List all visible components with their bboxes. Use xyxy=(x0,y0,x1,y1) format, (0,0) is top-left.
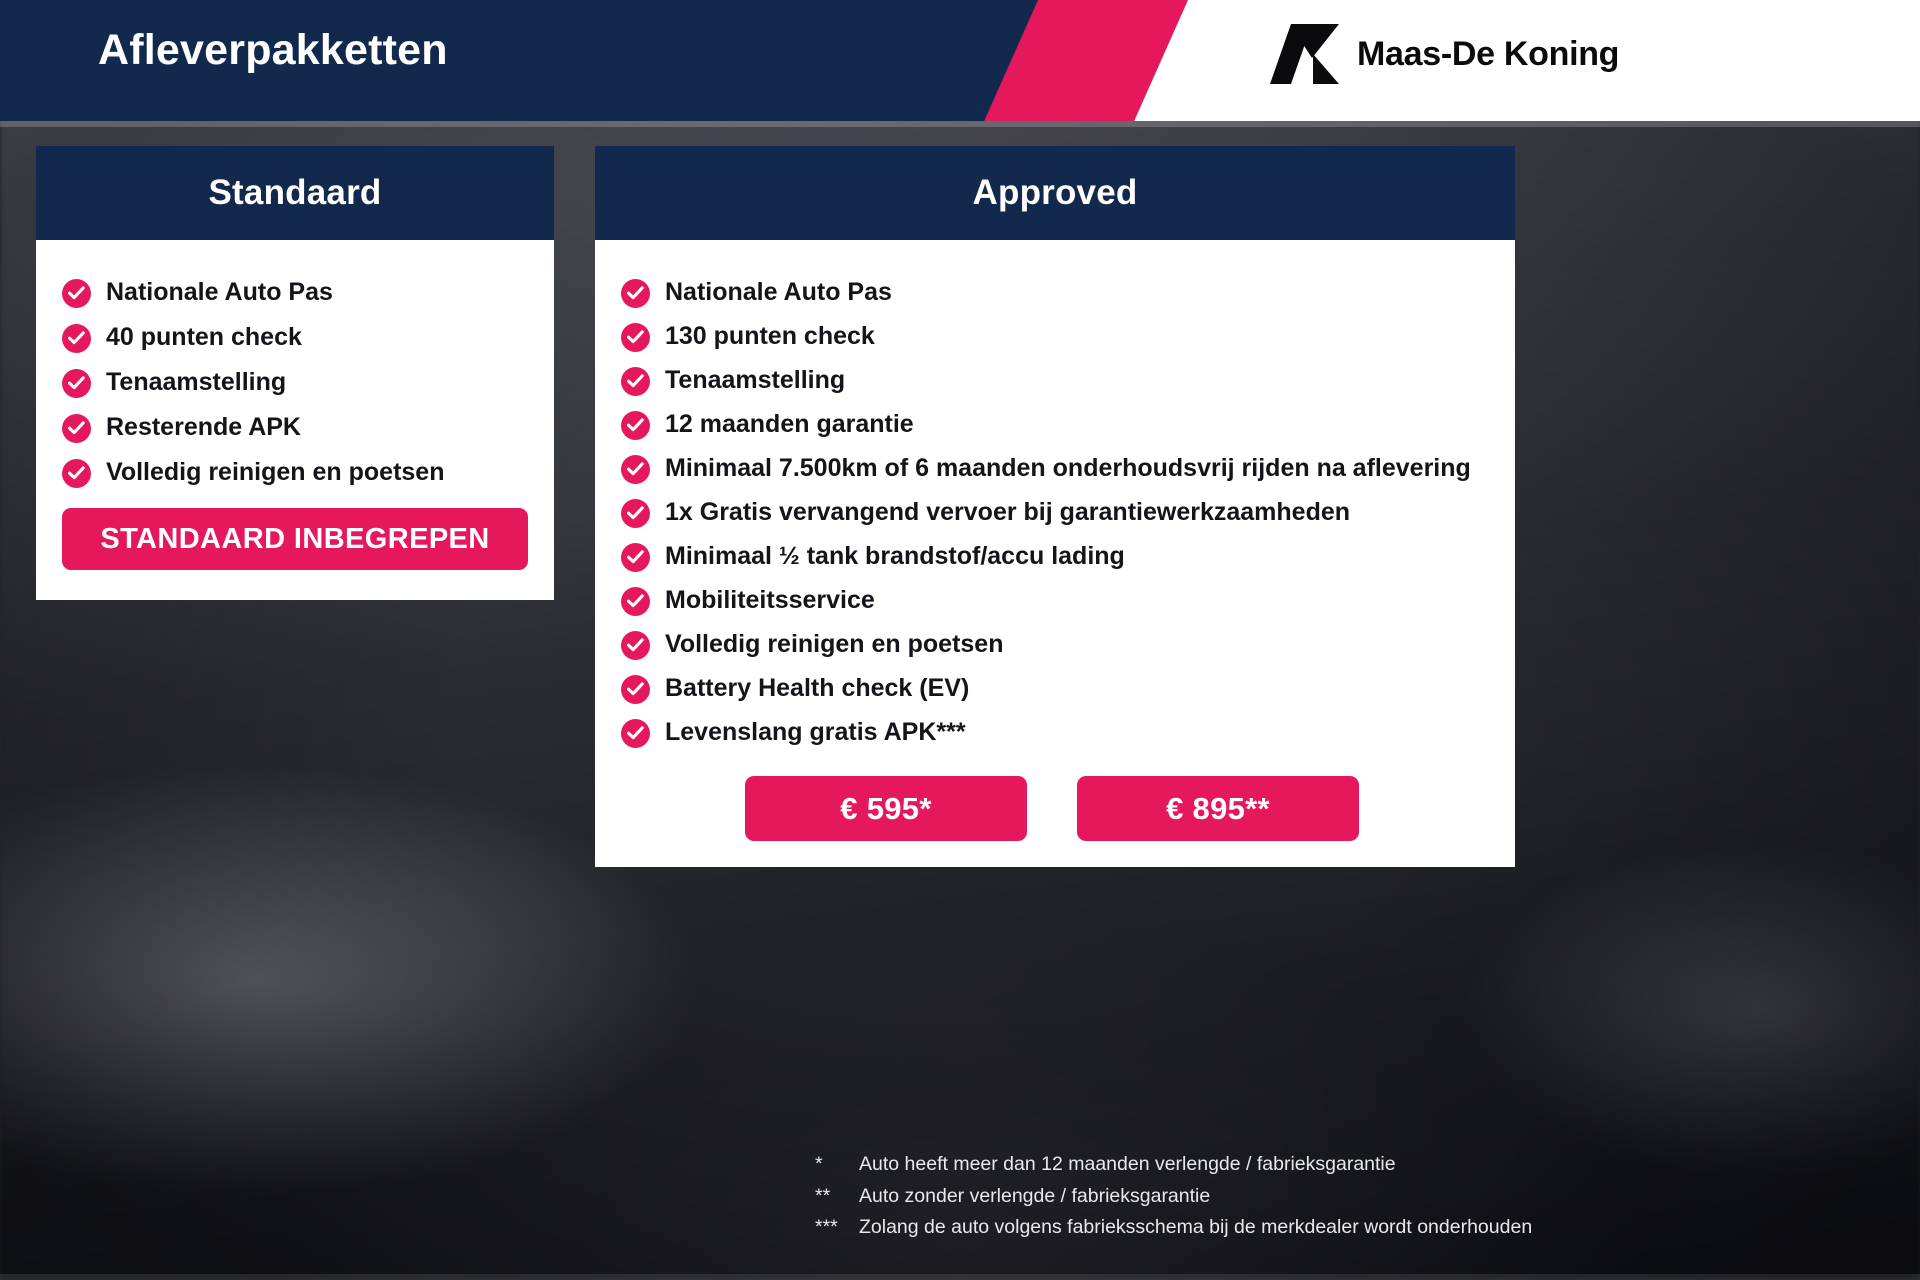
check-circle-icon xyxy=(62,279,91,308)
feature-label: Volledig reinigen en poetsen xyxy=(106,456,444,488)
feature-label: 1x Gratis vervangend vervoer bij garanti… xyxy=(665,496,1350,528)
feature-item: Volledig reinigen en poetsen xyxy=(621,628,1493,660)
check-icon xyxy=(68,376,85,391)
footnote-marker: ** xyxy=(815,1184,859,1210)
card-standaard-header: Standaard xyxy=(36,146,554,240)
feature-item: Nationale Auto Pas xyxy=(621,276,1493,308)
feature-label: Battery Health check (EV) xyxy=(665,672,969,704)
footnote-text: Auto zonder verlengde / fabrieksgarantie xyxy=(859,1184,1210,1210)
standaard-inbegrepen-button[interactable]: STANDAARD INBEGREPEN xyxy=(62,508,528,570)
check-circle-icon xyxy=(621,455,650,484)
check-icon xyxy=(627,462,644,477)
feature-item: Minimaal ½ tank brandstof/accu lading xyxy=(621,540,1493,572)
card-approved: Approved Nationale Auto Pas130 punten ch… xyxy=(595,146,1515,867)
footnote-marker: *** xyxy=(815,1215,859,1241)
check-circle-icon xyxy=(621,367,650,396)
check-circle-icon xyxy=(621,719,650,748)
check-circle-icon xyxy=(621,411,650,440)
check-circle-icon xyxy=(621,587,650,616)
price-button-1[interactable]: € 595* xyxy=(745,776,1027,841)
approved-feature-list: Nationale Auto Pas130 punten checkTenaam… xyxy=(621,276,1493,748)
feature-label: Tenaamstelling xyxy=(106,366,286,398)
card-approved-header: Approved xyxy=(595,146,1515,240)
check-icon xyxy=(627,418,644,433)
check-circle-icon xyxy=(621,675,650,704)
card-standaard-body: Nationale Auto Pas40 punten checkTenaams… xyxy=(36,240,554,600)
feature-item: 1x Gratis vervangend vervoer bij garanti… xyxy=(621,496,1493,528)
feature-label: Nationale Auto Pas xyxy=(665,276,892,308)
maas-de-koning-m-logo-icon xyxy=(1265,24,1339,84)
check-icon xyxy=(627,726,644,741)
feature-item: Tenaamstelling xyxy=(62,366,528,398)
footnote-row: *Auto heeft meer dan 12 maanden verlengd… xyxy=(815,1152,1532,1178)
check-icon xyxy=(627,594,644,609)
check-icon xyxy=(627,506,644,521)
price-button-2[interactable]: € 895** xyxy=(1077,776,1359,841)
feature-item: Battery Health check (EV) xyxy=(621,672,1493,704)
footnote-text: Zolang de auto volgens fabrieksschema bi… xyxy=(859,1215,1532,1241)
feature-label: 12 maanden garantie xyxy=(665,408,914,440)
check-circle-icon xyxy=(621,543,650,572)
feature-item: Minimaal 7.500km of 6 maanden onderhouds… xyxy=(621,452,1493,484)
card-standaard: Standaard Nationale Auto Pas40 punten ch… xyxy=(36,146,554,600)
feature-item: 130 punten check xyxy=(621,320,1493,352)
feature-label: Mobiliteitsservice xyxy=(665,584,875,616)
feature-label: Minimaal ½ tank brandstof/accu lading xyxy=(665,540,1125,572)
check-icon xyxy=(627,286,644,301)
page-header: Afleverpakketten Maas-De Koning xyxy=(0,0,1920,121)
check-icon xyxy=(68,421,85,436)
feature-label: Resterende APK xyxy=(106,411,301,443)
check-icon xyxy=(627,682,644,697)
footnote-marker: * xyxy=(815,1152,859,1178)
brand-name: Maas-De Koning xyxy=(1357,35,1619,74)
feature-item: Nationale Auto Pas xyxy=(62,276,528,308)
card-standaard-title: Standaard xyxy=(209,173,382,213)
check-circle-icon xyxy=(621,631,650,660)
feature-label: Tenaamstelling xyxy=(665,364,845,396)
brand-logo: Maas-De Koning xyxy=(1265,24,1619,84)
feature-item: Tenaamstelling xyxy=(621,364,1493,396)
check-circle-icon xyxy=(621,323,650,352)
feature-item: Mobiliteitsservice xyxy=(621,584,1493,616)
check-circle-icon xyxy=(62,324,91,353)
check-circle-icon xyxy=(62,459,91,488)
footnote-row: **Auto zonder verlengde / fabrieksgarant… xyxy=(815,1184,1532,1210)
check-icon xyxy=(68,286,85,301)
feature-item: Resterende APK xyxy=(62,411,528,443)
header-underline xyxy=(0,121,1920,127)
approved-price-row: € 595*€ 895** xyxy=(621,776,1493,841)
bottom-strip xyxy=(0,1274,1920,1280)
check-circle-icon xyxy=(621,279,650,308)
feature-label: Volledig reinigen en poetsen xyxy=(665,628,1003,660)
feature-item: 40 punten check xyxy=(62,321,528,353)
check-icon xyxy=(627,330,644,345)
feature-item: Levenslang gratis APK*** xyxy=(621,716,1493,748)
check-circle-icon xyxy=(62,414,91,443)
feature-item: Volledig reinigen en poetsen xyxy=(62,456,528,488)
feature-label: Levenslang gratis APK*** xyxy=(665,716,966,748)
feature-item: 12 maanden garantie xyxy=(621,408,1493,440)
check-icon xyxy=(68,331,85,346)
check-icon xyxy=(627,550,644,565)
check-icon xyxy=(627,374,644,389)
feature-label: Nationale Auto Pas xyxy=(106,276,333,308)
footnotes: *Auto heeft meer dan 12 maanden verlengd… xyxy=(815,1152,1532,1247)
card-approved-body: Nationale Auto Pas130 punten checkTenaam… xyxy=(595,240,1515,867)
page-title: Afleverpakketten xyxy=(98,26,448,75)
footnote-row: ***Zolang de auto volgens fabrieksschema… xyxy=(815,1215,1532,1241)
check-circle-icon xyxy=(621,499,650,528)
check-icon xyxy=(68,466,85,481)
card-approved-title: Approved xyxy=(973,173,1138,213)
check-icon xyxy=(627,638,644,653)
feature-label: 130 punten check xyxy=(665,320,875,352)
footnote-text: Auto heeft meer dan 12 maanden verlengde… xyxy=(859,1152,1396,1178)
feature-label: Minimaal 7.500km of 6 maanden onderhouds… xyxy=(665,452,1471,484)
check-circle-icon xyxy=(62,369,91,398)
feature-label: 40 punten check xyxy=(106,321,302,353)
standaard-feature-list: Nationale Auto Pas40 punten checkTenaams… xyxy=(62,276,528,488)
